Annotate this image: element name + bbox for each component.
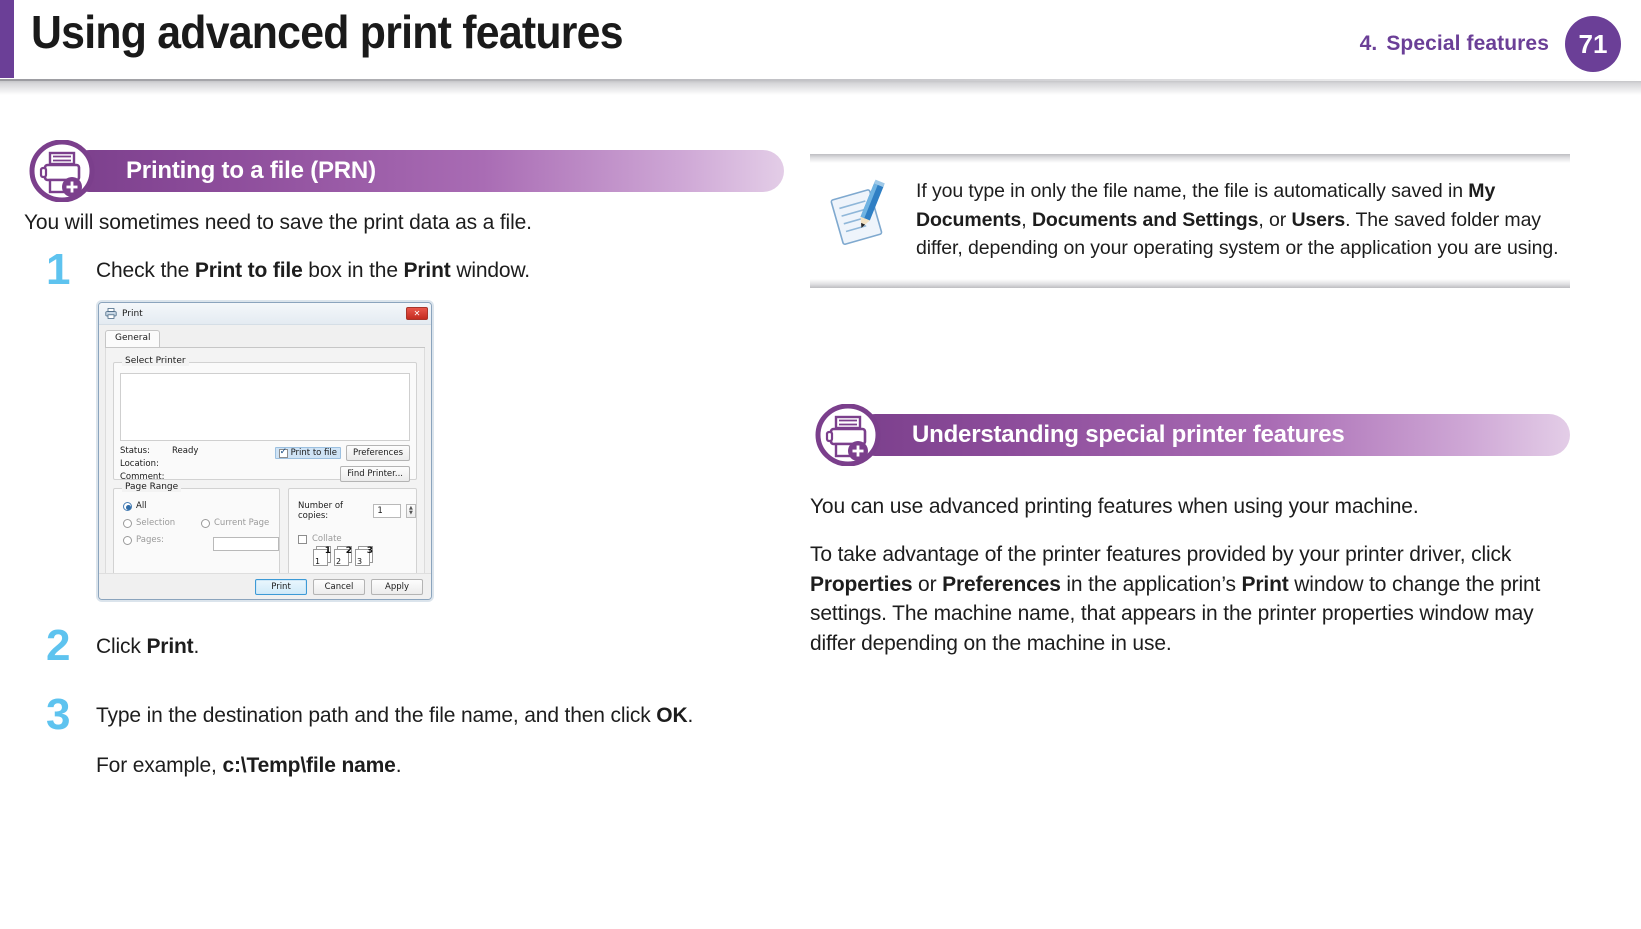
checkbox-icon	[279, 449, 288, 458]
collate-page-icon: 1 1	[313, 546, 331, 566]
print-to-file-label: Print to file	[291, 448, 337, 458]
page-header: Using advanced print features 4.Special …	[0, 0, 1641, 84]
step-number: 2	[46, 624, 70, 668]
print-dialog-screenshot: Print ✕ General Select Printer S	[98, 302, 784, 600]
note-content: If you type in only the file name, the f…	[810, 163, 1570, 279]
preferences-button[interactable]: Preferences	[346, 445, 410, 461]
tab-general[interactable]: General	[105, 330, 160, 347]
radio-icon	[123, 502, 132, 511]
step-2: 2 Click Print.	[24, 632, 784, 662]
copies-row: Number of copies: 1 ▲▼	[298, 501, 416, 521]
dialog-titlebar: Print ✕	[99, 303, 431, 325]
apply-button[interactable]: Apply	[371, 579, 423, 595]
header-divider	[0, 79, 1641, 95]
step-1: 1 Check the Print to file box in the Pri…	[24, 256, 784, 286]
section-title: Printing to a file (PRN)	[126, 157, 376, 185]
cancel-button[interactable]: Cancel	[313, 579, 365, 595]
step-text: Type in the destination path and the fil…	[96, 701, 784, 731]
print-to-file-row: Print to file Preferences	[275, 445, 410, 461]
location-label: Location:	[120, 458, 172, 471]
radio-current-page[interactable]: Current Page	[201, 518, 269, 528]
radio-icon	[201, 519, 210, 528]
radio-current-page-label: Current Page	[214, 518, 269, 528]
step-3: 3 Type in the destination path and the f…	[24, 701, 784, 782]
print-dialog-window: Print ✕ General Select Printer S	[98, 302, 432, 600]
collate-label: Collate	[312, 534, 342, 544]
section-header-printing-to-file: Printing to a file (PRN)	[24, 140, 784, 202]
chapter-number: 4.	[1360, 32, 1378, 55]
dialog-tabstrip: General	[105, 330, 425, 348]
collate-small-number: 2	[336, 557, 341, 566]
radio-pages-label: Pages:	[136, 535, 164, 545]
section-title: Understanding special printer features	[912, 421, 1345, 449]
step-number: 3	[46, 693, 70, 737]
printer-plus-icon	[810, 404, 886, 466]
dialog-client-area: General Select Printer Status:Ready Loca…	[99, 325, 431, 592]
printer-status-left: Status:Ready Location: Comment:	[120, 445, 198, 484]
radio-selection[interactable]: Selection	[123, 518, 201, 528]
chapter-label: 4.Special features	[1360, 32, 1549, 56]
dialog-lower-row: Page Range All Selection	[113, 488, 417, 583]
dialog-footer: Print Cancel Apply	[99, 573, 431, 599]
collate-small-number: 1	[315, 557, 320, 566]
radio-all[interactable]: All	[123, 501, 279, 511]
step-example-text: For example, c:\Temp\file name.	[96, 751, 784, 781]
header-chapter-info: 4.Special features 71	[1360, 16, 1621, 72]
page-number-badge: 71	[1565, 16, 1621, 72]
status-value: Ready	[172, 446, 198, 456]
find-printer-row: Find Printer...	[275, 461, 410, 482]
spinner-down-icon: ▼	[409, 511, 413, 516]
note-top-divider	[810, 154, 1570, 163]
radio-icon	[123, 519, 132, 528]
collate-big-number: 3	[367, 546, 373, 556]
radio-icon	[123, 536, 132, 545]
collate-preview-icons: 1 1 2 2	[313, 546, 416, 566]
radio-all-label: All	[136, 501, 147, 511]
right-paragraph-2: To take advantage of the printer feature…	[810, 540, 1570, 659]
document-page: Using advanced print features 4.Special …	[0, 0, 1641, 929]
collate-big-number: 2	[346, 546, 352, 556]
right-paragraph-1: You can use advanced printing features w…	[810, 492, 1570, 522]
select-printer-label: Select Printer	[122, 356, 189, 366]
radio-pages[interactable]: Pages:	[123, 535, 201, 545]
header-accent-bar	[0, 0, 14, 78]
section-header-special-features: Understanding special printer features	[810, 404, 1570, 466]
print-to-file-checkbox[interactable]: Print to file	[275, 447, 341, 459]
page-range-label: Page Range	[122, 482, 181, 492]
copies-label: Number of copies:	[298, 501, 368, 521]
page-title: Using advanced print features	[31, 5, 623, 59]
collate-big-number: 1	[325, 546, 331, 556]
note-pencil-icon	[820, 177, 916, 256]
collate-row[interactable]: Collate	[298, 534, 416, 544]
printer-list[interactable]	[120, 373, 410, 441]
collate-page-icon: 3 3	[355, 546, 373, 566]
note-bottom-divider	[810, 279, 1570, 288]
close-icon[interactable]: ✕	[406, 307, 428, 320]
note-text: If you type in only the file name, the f…	[916, 177, 1566, 263]
copies-group: Number of copies: 1 ▲▼ Collate	[288, 488, 417, 583]
note-callout: If you type in only the file name, the f…	[810, 140, 1570, 302]
chapter-name: Special features	[1386, 32, 1549, 55]
left-column: Printing to a file (PRN) You will someti…	[24, 140, 784, 790]
section-header-bar: Understanding special printer features	[854, 414, 1570, 456]
radio-selection-label: Selection	[136, 518, 175, 528]
step-text: Check the Print to file box in the Print…	[96, 256, 784, 286]
status-label: Status:	[120, 445, 172, 458]
dialog-panel: Select Printer Status:Ready Location: Co…	[105, 348, 425, 586]
intro-paragraph: You will sometimes need to save the prin…	[24, 208, 784, 238]
step-number: 1	[46, 248, 70, 292]
copies-spinner[interactable]: ▲▼	[406, 504, 416, 518]
collate-page-icon: 2 2	[334, 546, 352, 566]
printer-status-right: Print to file Preferences Find Printer..…	[275, 445, 410, 484]
print-button[interactable]: Print	[255, 579, 307, 595]
pages-input[interactable]	[213, 537, 279, 551]
printer-icon	[105, 304, 117, 323]
checkbox-icon	[298, 535, 307, 544]
right-column: If you type in only the file name, the f…	[810, 140, 1570, 677]
copies-input[interactable]: 1	[373, 504, 401, 518]
select-printer-group: Select Printer Status:Ready Location: Co…	[113, 362, 417, 480]
printer-plus-icon	[24, 140, 100, 202]
find-printer-button[interactable]: Find Printer...	[340, 466, 410, 482]
step-text: Click Print.	[96, 632, 784, 662]
page-range-group: Page Range All Selection	[113, 488, 280, 583]
section-header-bar: Printing to a file (PRN)	[68, 150, 784, 192]
dialog-title: Print	[122, 309, 143, 319]
collate-small-number: 3	[357, 557, 362, 566]
